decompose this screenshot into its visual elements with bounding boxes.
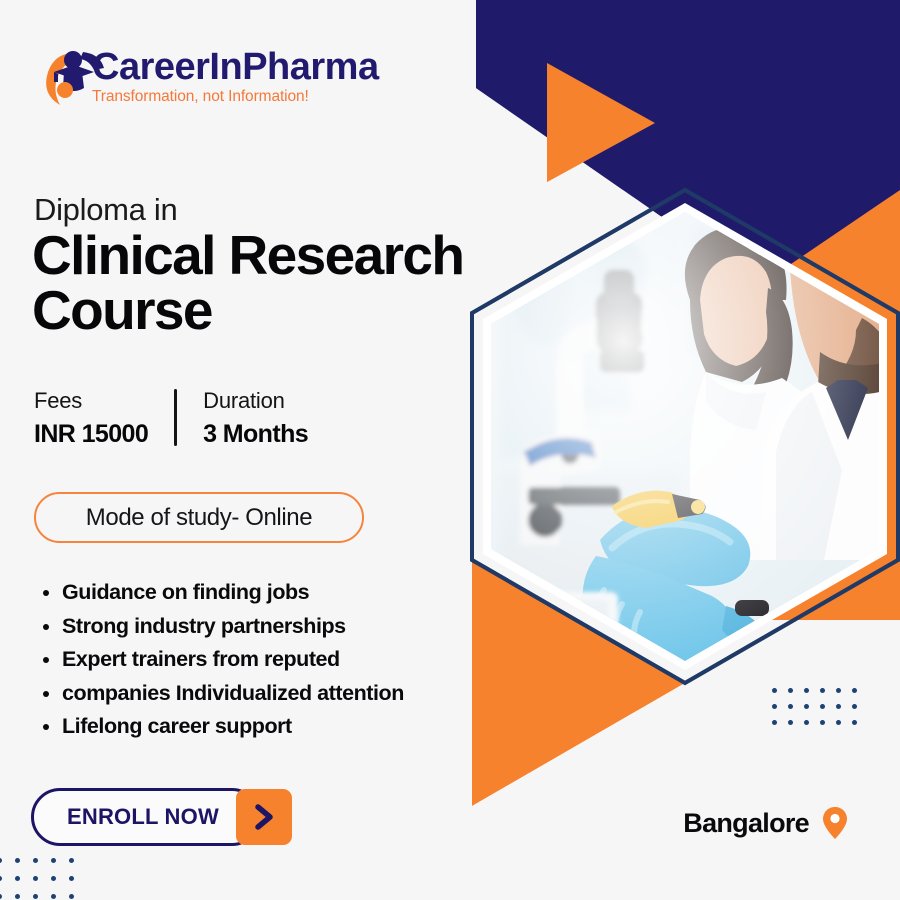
fees-block: Fees INR 15000	[34, 385, 148, 452]
dot	[0, 858, 2, 863]
dot	[15, 858, 20, 863]
list-item: Lifelong career support	[36, 710, 466, 744]
dot	[15, 876, 20, 881]
dot	[804, 688, 809, 693]
duration-value: 3 Months	[203, 417, 308, 452]
dot	[852, 704, 857, 709]
dot	[33, 876, 38, 881]
dot	[0, 876, 2, 881]
title-line-2: Course	[32, 283, 552, 338]
brand-logo[interactable]: CareerInPharma Transformation, not Infor…	[34, 38, 334, 116]
dot	[852, 720, 857, 725]
enroll-label: ENROLL NOW	[67, 804, 219, 830]
page-title: Clinical Research Course	[32, 228, 552, 338]
dot	[69, 876, 74, 881]
dot	[69, 858, 74, 863]
enroll-now-button[interactable]: ENROLL NOW	[31, 788, 289, 846]
enroll-arrow-button[interactable]	[236, 789, 292, 845]
dot	[51, 858, 56, 863]
dot	[772, 720, 777, 725]
promo-poster: CareerInPharma Transformation, not Infor…	[0, 0, 900, 900]
feature-list: Guidance on finding jobs Strong industry…	[36, 576, 466, 744]
dot	[788, 720, 793, 725]
meta-divider	[174, 389, 177, 446]
dot	[836, 720, 841, 725]
course-eyebrow: Diploma in	[34, 193, 177, 227]
course-meta: Fees INR 15000 Duration 3 Months	[34, 385, 308, 452]
chevron-right-icon	[251, 802, 277, 832]
dot-row	[0, 894, 74, 899]
dot-grid-left	[0, 858, 74, 900]
brand-tagline: Transformation, not Information!	[92, 89, 338, 105]
list-item: Strong industry partnerships	[36, 610, 466, 644]
duration-block: Duration 3 Months	[203, 385, 308, 452]
dot	[0, 894, 2, 899]
dot-grid-right	[772, 688, 857, 736]
list-item: Guidance on finding jobs	[36, 576, 466, 610]
brand-name: CareerInPharma	[92, 48, 338, 86]
sample-tray	[500, 592, 618, 654]
list-item: Expert trainers from reputed	[36, 643, 466, 677]
mode-of-study-label: Mode of study- Online	[86, 504, 312, 532]
location-block: Bangalore	[683, 806, 848, 840]
dot	[788, 688, 793, 693]
dot	[804, 720, 809, 725]
dot	[836, 704, 841, 709]
enroll-pill[interactable]: ENROLL NOW	[31, 788, 261, 846]
dot-row	[0, 858, 74, 863]
dot	[788, 704, 793, 709]
map-pin-icon	[822, 806, 848, 840]
dot	[33, 858, 38, 863]
dot	[820, 688, 825, 693]
dot-row	[0, 876, 74, 881]
duration-label: Duration	[203, 385, 308, 417]
dot	[51, 894, 56, 899]
dot	[33, 894, 38, 899]
researcher-woman	[685, 228, 840, 560]
gloved-hands	[583, 491, 770, 672]
dot	[69, 894, 74, 899]
location-city: Bangalore	[683, 808, 809, 839]
dot	[772, 704, 777, 709]
dot	[820, 720, 825, 725]
dot	[15, 894, 20, 899]
dot	[820, 704, 825, 709]
fees-label: Fees	[34, 385, 148, 417]
title-line-1: Clinical Research	[32, 224, 463, 286]
mode-of-study-badge: Mode of study- Online	[34, 492, 364, 543]
dot	[804, 704, 809, 709]
dot	[852, 688, 857, 693]
dot-row	[772, 704, 857, 709]
dot	[836, 688, 841, 693]
dot-row	[772, 720, 857, 725]
dot	[772, 688, 777, 693]
dot-row	[772, 688, 857, 693]
fees-value: INR 15000	[34, 417, 148, 452]
researcher-man	[760, 200, 900, 560]
dot	[51, 876, 56, 881]
list-item: companies Individualized attention	[36, 677, 466, 711]
